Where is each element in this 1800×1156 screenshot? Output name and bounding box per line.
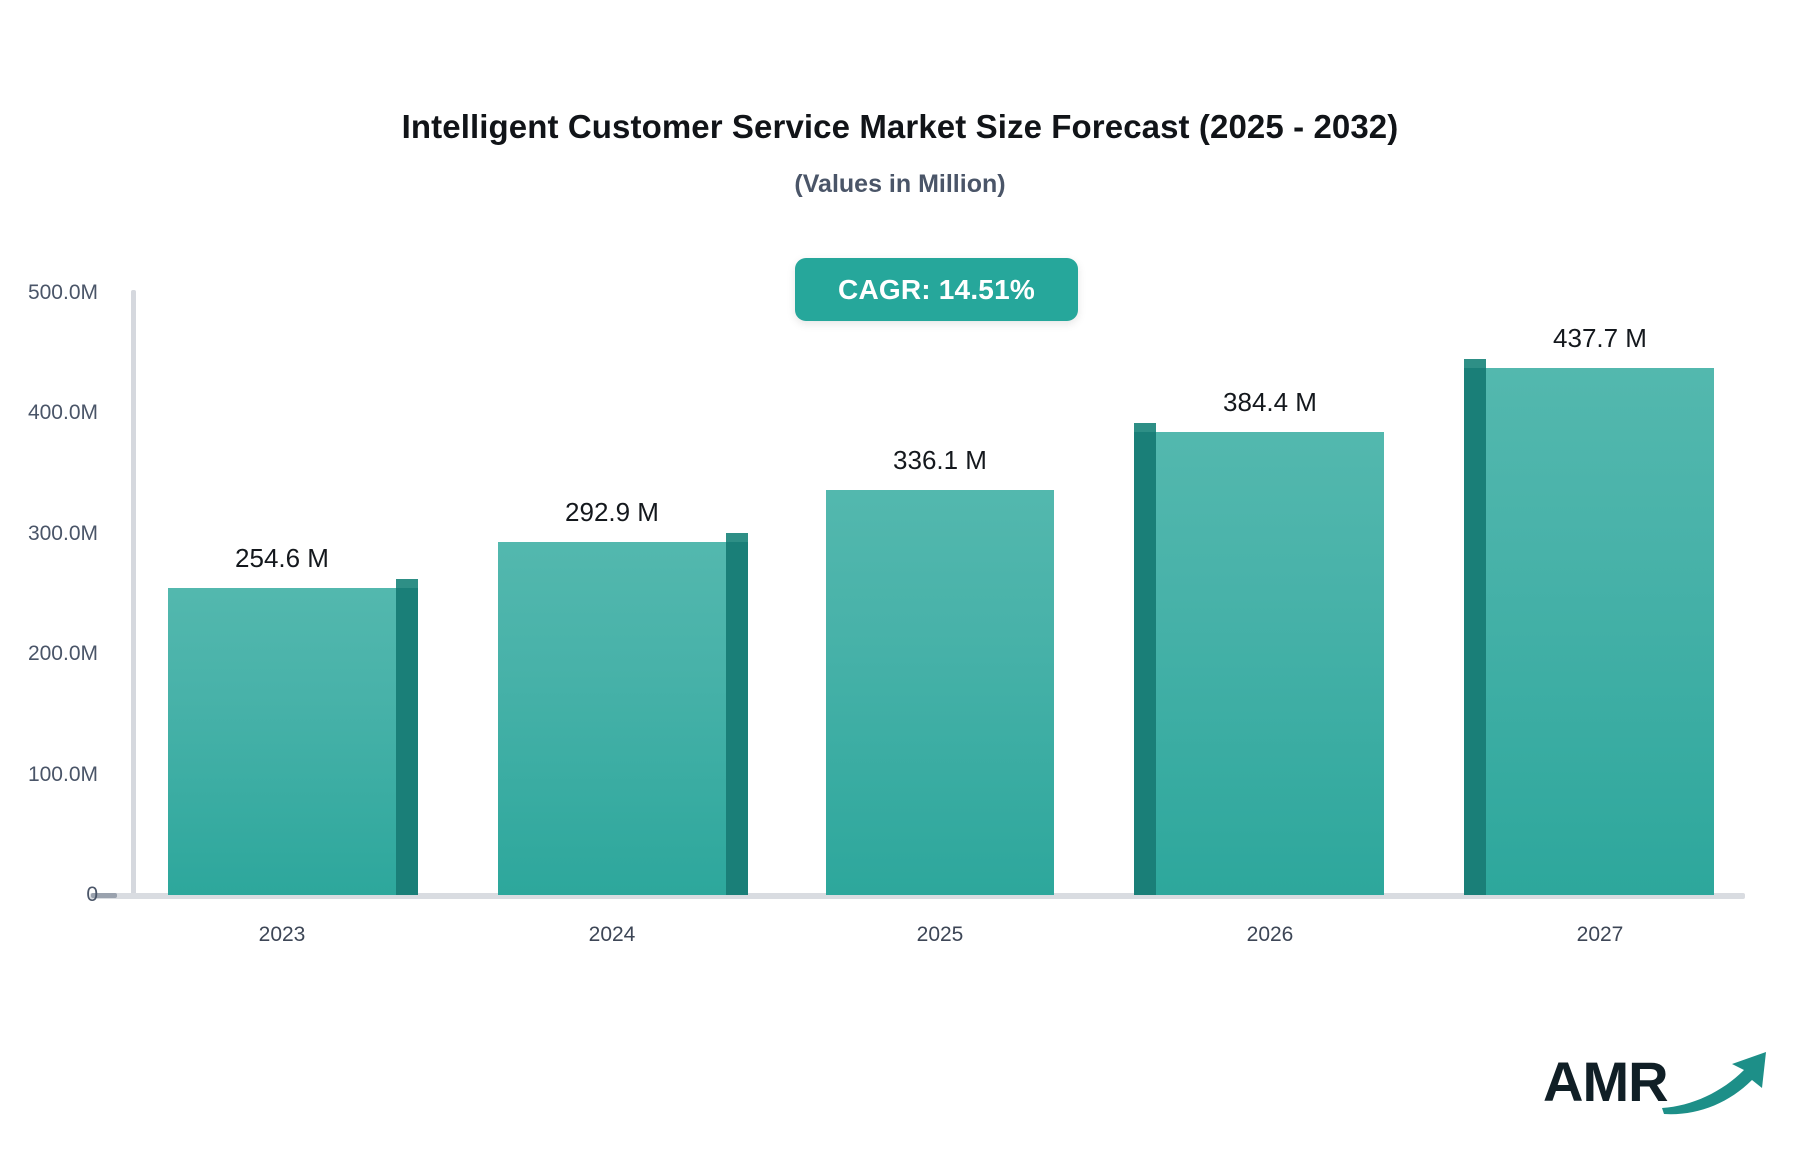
bar-2024[interactable]: 292.9 M <box>498 542 726 895</box>
chart-subtitle: (Values in Million) <box>0 170 1800 199</box>
bar-top-bevel <box>726 533 748 542</box>
bar-side-face <box>1464 368 1486 895</box>
bar-top-bevel <box>1134 423 1156 432</box>
bar-top-bevel <box>1464 359 1486 368</box>
bar-value-label: 292.9 M <box>565 497 659 528</box>
x-axis-tick-label: 2024 <box>589 923 636 947</box>
bar-value-label: 336.1 M <box>893 445 987 476</box>
cagr-badge: CAGR: 14.51% <box>795 258 1078 321</box>
x-axis-tick-label: 2027 <box>1577 923 1624 947</box>
bar-value-label: 384.4 M <box>1223 387 1317 418</box>
bar-2025[interactable]: 336.1 M <box>826 490 1054 895</box>
bar-face <box>1156 432 1384 895</box>
bar-side-face <box>1134 432 1156 895</box>
x-axis-tick-label: 2023 <box>259 923 306 947</box>
amr-logo: AMR <box>1543 1040 1778 1123</box>
y-axis-tick-label: 100.0M <box>28 763 98 787</box>
bar-face <box>1486 368 1714 895</box>
bar-value-label: 437.7 M <box>1553 323 1647 354</box>
bar-face <box>498 542 726 895</box>
y-axis-tick-label: 200.0M <box>28 642 98 666</box>
x-axis-tick-label: 2026 <box>1247 923 1294 947</box>
bar-face <box>168 588 396 895</box>
bar-2023[interactable]: 254.6 M <box>168 588 396 895</box>
y-axis-tick-label: 300.0M <box>28 522 98 546</box>
x-axis-tick-label: 2025 <box>917 923 964 947</box>
y-axis-line <box>131 290 136 895</box>
y-axis-tick-label: 0 <box>86 883 98 907</box>
amr-logo-text: AMR <box>1543 1054 1668 1110</box>
bar-2026[interactable]: 384.4 M <box>1156 432 1384 895</box>
bar-top-bevel <box>396 579 418 588</box>
cagr-badge-label: CAGR: 14.51% <box>838 274 1035 306</box>
y-axis-tick-label: 400.0M <box>28 401 98 425</box>
y-axis-tick-label: 500.0M <box>28 281 98 305</box>
chart-title: Intelligent Customer Service Market Size… <box>0 108 1800 146</box>
bar-2027[interactable]: 437.7 M <box>1486 368 1714 895</box>
trending-up-arrow-icon <box>1658 1046 1778 1123</box>
bar-side-face <box>396 588 418 895</box>
bar-side-face <box>726 542 748 895</box>
bar-value-label: 254.6 M <box>235 543 329 574</box>
bar-face <box>826 490 1054 895</box>
chart-canvas: Intelligent Customer Service Market Size… <box>0 0 1800 1156</box>
